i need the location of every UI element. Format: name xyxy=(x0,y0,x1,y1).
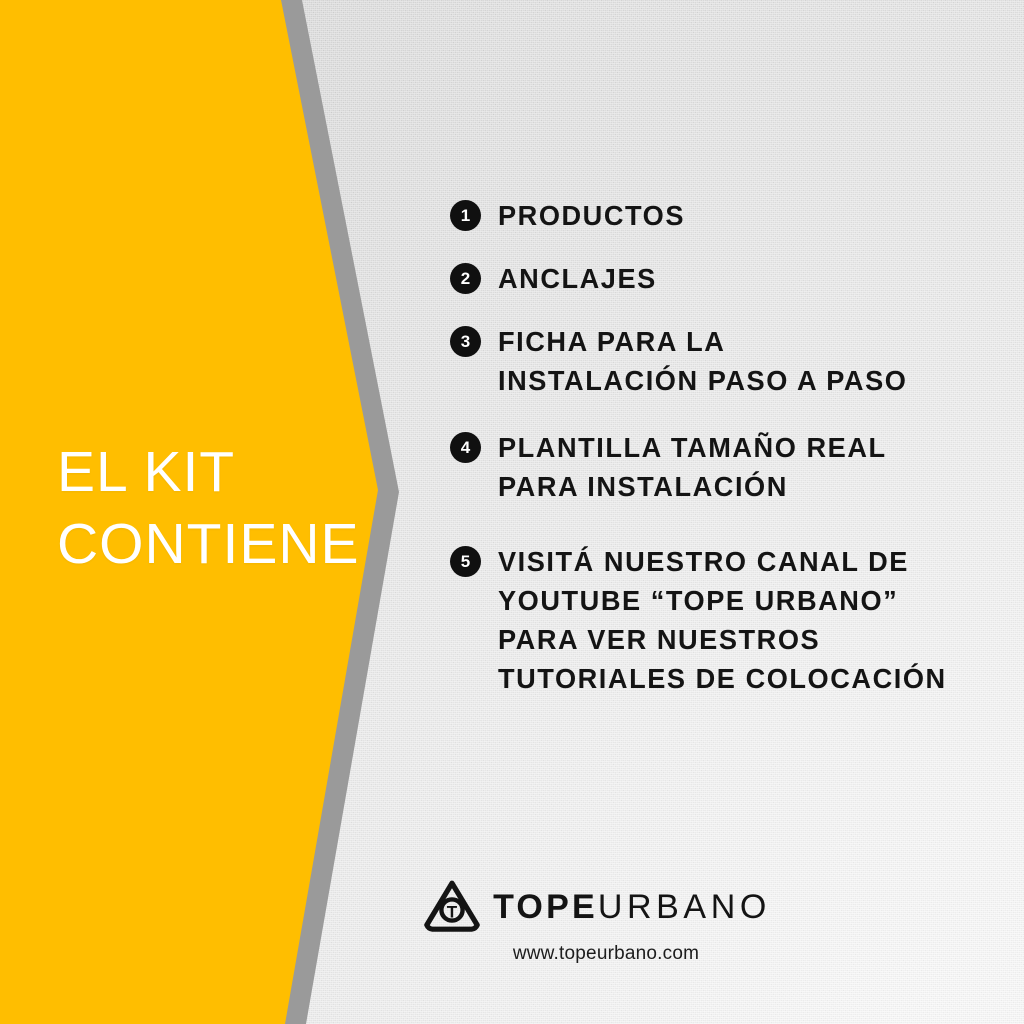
list-item-label: VISITÁ NUESTRO CANAL DE YOUTUBE “TOPE UR… xyxy=(498,542,947,698)
wordmark-urbano: URBANO xyxy=(598,888,771,926)
list-item-label: ANCLAJES xyxy=(498,259,657,298)
list-item-number-badge: 1 xyxy=(450,200,481,231)
list-item: 3 FICHA PARA LA INSTALACIÓN PASO A PASO xyxy=(450,322,990,400)
kit-contents-list: 1 PRODUCTOS 2 ANCLAJES 3 FICHA PARA LA I… xyxy=(450,196,990,698)
list-item: 1 PRODUCTOS xyxy=(450,196,990,235)
brand-logo-block: T TOPEURBANO www.topeurbano.com xyxy=(0,880,1024,965)
brand-wordmark: TOPEURBANO xyxy=(493,890,771,924)
list-item: 4 PLANTILLA TAMAÑO REAL PARA INSTALACIÓN xyxy=(450,428,990,506)
list-item: 5 VISITÁ NUESTRO CANAL DE YOUTUBE “TOPE … xyxy=(450,542,990,698)
tope-urbano-triangle-icon: T xyxy=(423,880,481,934)
brand-logo-row: T TOPEURBANO xyxy=(423,880,771,934)
wordmark-tope: TOPE xyxy=(493,888,598,926)
list-item-number-badge: 3 xyxy=(450,326,481,357)
list-item-label: PLANTILLA TAMAÑO REAL PARA INSTALACIÓN xyxy=(498,428,887,506)
list-item-label: FICHA PARA LA INSTALACIÓN PASO A PASO xyxy=(498,322,907,400)
list-item: 2 ANCLAJES xyxy=(450,259,990,298)
poster-canvas: EL KIT CONTIENE 1 PRODUCTOS 2 ANCLAJES 3… xyxy=(0,0,1024,1024)
list-item-number-badge: 2 xyxy=(450,263,481,294)
website-url[interactable]: www.topeurbano.com xyxy=(513,943,699,965)
list-item-number-badge: 5 xyxy=(450,546,481,577)
logo-mark-letter: T xyxy=(447,902,458,921)
page-title: EL KIT CONTIENE xyxy=(57,436,357,580)
list-item-number-badge: 4 xyxy=(450,432,481,463)
list-item-label: PRODUCTOS xyxy=(498,196,685,235)
